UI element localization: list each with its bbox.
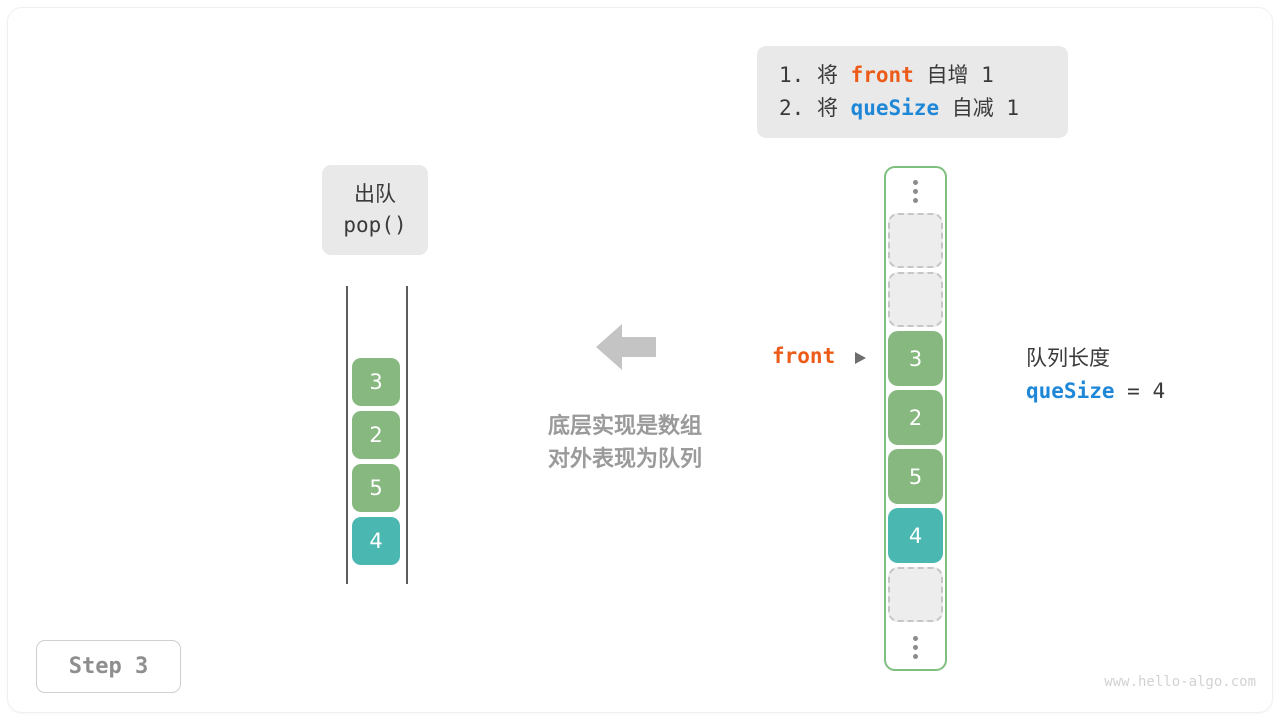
array-cell-value: 4 — [909, 524, 922, 548]
queue-size-expression: queSize = 4 — [1026, 374, 1165, 408]
instruction-2-text-after: 自减 1 — [939, 96, 1019, 120]
center-caption-line-1: 底层实现是数组 — [529, 410, 721, 443]
array-ellipsis-bottom — [888, 628, 943, 666]
queue-cell-value: 3 — [369, 370, 382, 394]
queue-cell: 2 — [352, 411, 400, 459]
queue-cell: 4 — [352, 517, 400, 565]
quesize-equals: = — [1115, 379, 1153, 403]
front-pointer-label: front — [772, 344, 835, 368]
queue-rail-left — [346, 286, 348, 584]
left-arrow-icon — [596, 322, 656, 372]
step-badge: Step 3 — [36, 640, 181, 693]
center-caption: 底层实现是数组 对外表现为队列 — [529, 410, 721, 476]
queue-cell-value: 2 — [369, 423, 382, 447]
pop-label-code: pop() — [322, 210, 428, 241]
center-caption-line-2: 对外表现为队列 — [529, 443, 721, 476]
array-cell-filled: 3 — [888, 331, 943, 386]
instruction-2-text-before: 将 — [804, 96, 850, 120]
array-cell-value: 3 — [909, 347, 922, 371]
quesize-value: 4 — [1152, 379, 1165, 403]
array-cell-empty — [888, 567, 943, 622]
array-cell-empty — [888, 272, 943, 327]
array-cell-filled: 4 — [888, 508, 943, 563]
watermark: www.hello-algo.com — [1104, 674, 1256, 690]
pop-label-cn: 出队 — [322, 179, 428, 210]
front-pointer-arrow-icon — [855, 352, 866, 364]
queue-rail-right — [406, 286, 408, 584]
instruction-2-index: 2. — [779, 96, 804, 120]
instruction-line-2: 2. 将 queSize 自减 1 — [779, 92, 1046, 125]
step-badge-label: Step 3 — [69, 654, 148, 679]
queue-cell-value: 4 — [369, 529, 382, 553]
instruction-1-keyword: front — [851, 63, 914, 87]
array-cell-filled: 5 — [888, 449, 943, 504]
queue-cell-value: 5 — [369, 476, 382, 500]
instruction-1-index: 1. — [779, 63, 804, 87]
instruction-box: 1. 将 front 自增 1 2. 将 queSize 自减 1 — [757, 46, 1068, 138]
array-cell-empty — [888, 213, 943, 268]
array-ellipsis-top — [888, 172, 943, 210]
instruction-2-keyword: queSize — [851, 96, 940, 120]
instruction-1-text-before: 将 — [804, 63, 850, 87]
queue-cell: 5 — [352, 464, 400, 512]
queue-size-note: 队列长度 queSize = 4 — [1026, 342, 1165, 408]
array-cell-value: 2 — [909, 406, 922, 430]
quesize-variable: queSize — [1026, 379, 1115, 403]
diagram-canvas: 1. 将 front 自增 1 2. 将 queSize 自减 1 出队 pop… — [0, 0, 1280, 720]
instruction-1-text-after: 自增 1 — [914, 63, 994, 87]
pop-label-box: 出队 pop() — [322, 165, 428, 255]
queue-cell: 3 — [352, 358, 400, 406]
instruction-line-1: 1. 将 front 自增 1 — [779, 59, 1046, 92]
array-cell-filled: 2 — [888, 390, 943, 445]
array-cell-value: 5 — [909, 465, 922, 489]
queue-size-label: 队列长度 — [1026, 342, 1165, 374]
